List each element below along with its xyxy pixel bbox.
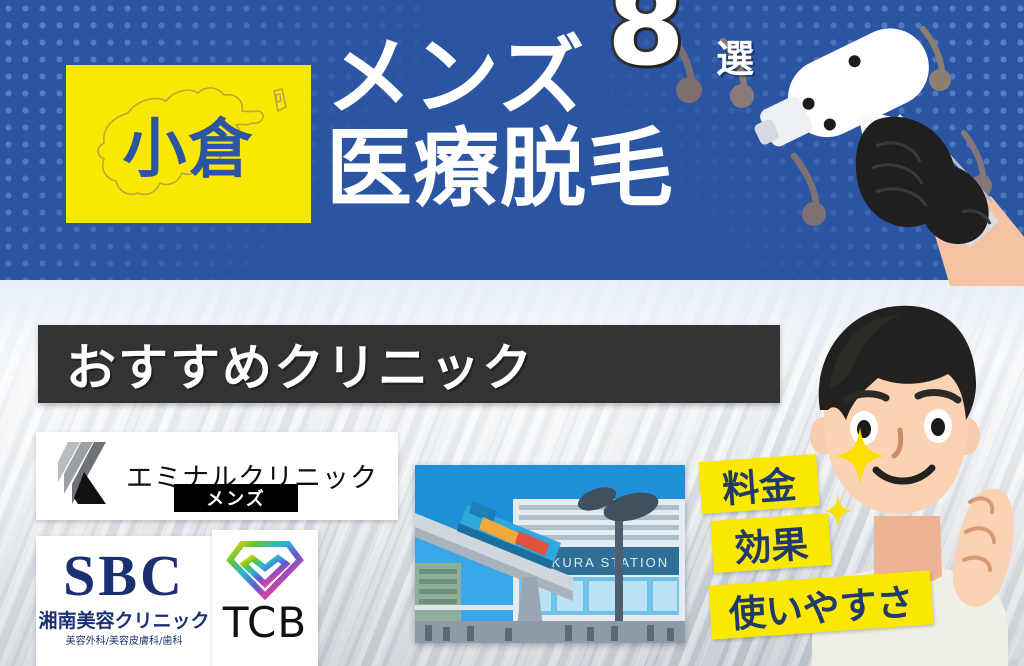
eminal-mens-badge: メンズ: [174, 484, 298, 512]
logo-card-eminal[interactable]: エミナルクリニック メンズ: [36, 432, 398, 520]
region-map-card: 小倉: [66, 65, 311, 223]
title-line-2: 医療脱毛: [326, 126, 796, 214]
logo-card-tcb[interactable]: TCB: [212, 530, 318, 666]
sbc-initials: SBC: [36, 542, 212, 609]
region-badge-label: 小倉: [66, 65, 311, 223]
recommendation-banner: おすすめクリニック: [38, 325, 780, 403]
tcb-rainbow-diamond-icon: [226, 538, 304, 600]
station-photo: KOKURA STATION: [415, 465, 685, 643]
sbc-departments: 美容外科/美容皮膚科/歯科: [36, 632, 212, 647]
sparkle-icon: [834, 427, 886, 485]
logo-card-sbc[interactable]: SBC 湘南美容クリニック 美容外科/美容皮膚科/歯科: [36, 536, 212, 666]
eminal-stripes-logo-icon: [54, 442, 116, 508]
feature-tag-effect: 効果: [710, 513, 831, 573]
tcb-initials: TCB: [212, 598, 318, 647]
clinic-count-number: 8: [607, 0, 685, 82]
feature-tag-price: 料金: [698, 454, 819, 514]
poster-canvas: 小倉 メンズ 医療脱毛 おすすめクリニック 8 選 エミナルクリニック メンズ …: [0, 0, 1024, 666]
clinic-count-suffix: 選: [716, 28, 754, 83]
banner-label: おすすめクリニック: [66, 328, 534, 400]
sbc-clinic-name: 湘南美容クリニック: [36, 606, 212, 633]
